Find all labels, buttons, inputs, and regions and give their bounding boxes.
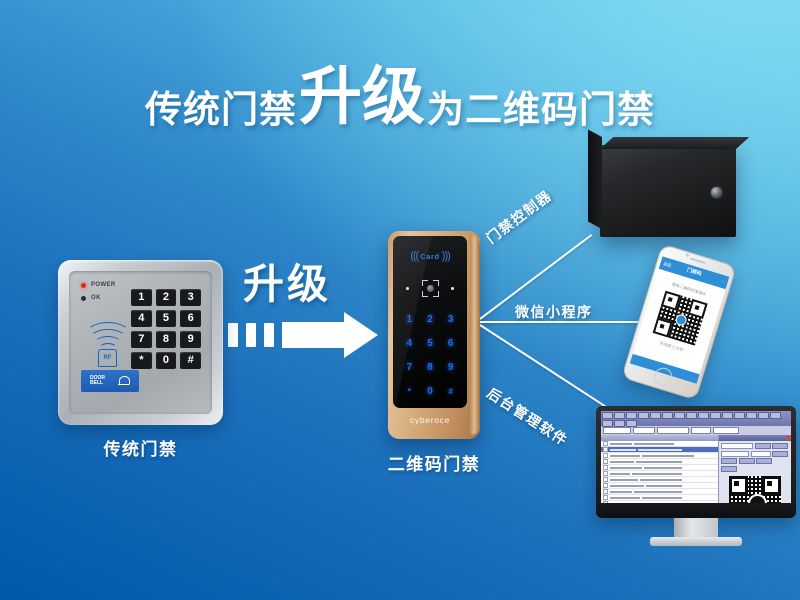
- keypad-key[interactable]: 8: [156, 331, 177, 348]
- form-input[interactable]: [721, 443, 753, 449]
- qr-reader-side-edge: [470, 235, 480, 435]
- form-button[interactable]: [772, 443, 788, 449]
- form-input[interactable]: [721, 451, 749, 457]
- table-row[interactable]: [601, 501, 718, 503]
- software-toolbar[interactable]: [601, 411, 791, 426]
- qr-device-caption: 二维码门禁: [368, 450, 500, 475]
- arrow-dash: [264, 323, 274, 347]
- keypad-key[interactable]: 4: [131, 310, 152, 327]
- toolbar-button[interactable]: [758, 412, 769, 419]
- row-checkbox[interactable]: [603, 495, 608, 500]
- keypad-key[interactable]: 7: [131, 331, 152, 348]
- cell-text: [634, 443, 674, 445]
- toolbar-button[interactable]: [638, 412, 649, 419]
- qr-generate-dialog[interactable]: [718, 435, 791, 503]
- cell-text: [610, 485, 644, 487]
- connector-label-software: 后台管理软件: [483, 383, 572, 450]
- row-checkbox[interactable]: [603, 471, 608, 476]
- scanner-corner: [433, 291, 439, 297]
- arrow-head: [282, 312, 378, 358]
- legacy-device-caption: 传统门禁: [58, 435, 223, 460]
- toolbar-button[interactable]: [734, 412, 745, 419]
- scanner-lens: [427, 285, 434, 292]
- rf-wave-arc: [85, 322, 131, 348]
- controller-front-panel: [600, 145, 736, 237]
- rf-card-label: RF: [98, 349, 117, 367]
- form-button[interactable]: [739, 458, 755, 464]
- qr-finder-pattern: [653, 317, 673, 337]
- cell-text: [610, 455, 640, 457]
- toolbar-button[interactable]: [674, 412, 685, 419]
- wave-right-icon: ))): [440, 250, 450, 262]
- keypad-key[interactable]: 0: [156, 352, 177, 369]
- cell-text: [610, 491, 632, 493]
- cell-text: [610, 473, 630, 475]
- toolbar-button[interactable]: [626, 420, 637, 427]
- form-button[interactable]: [755, 443, 771, 449]
- sensor-led-right: [451, 287, 454, 290]
- keypad-key[interactable]: 9: [180, 331, 201, 348]
- toolbar-button[interactable]: [770, 412, 781, 419]
- qr-scanner-icon: [422, 280, 439, 297]
- cell-text: [610, 443, 632, 445]
- cell-text: [642, 455, 694, 457]
- row-checkbox[interactable]: [603, 483, 608, 488]
- filter-input[interactable]: [713, 427, 739, 434]
- power-led-indicator: POWER: [81, 282, 116, 288]
- toolbar-button[interactable]: [650, 412, 661, 419]
- toolbar-button[interactable]: [626, 412, 637, 419]
- toolbar-button[interactable]: [722, 412, 733, 419]
- toolbar-button[interactable]: [602, 412, 613, 419]
- touch-key[interactable]: 8: [420, 356, 441, 380]
- toolbar-button[interactable]: [698, 412, 709, 419]
- keypad-key[interactable]: *: [131, 352, 152, 369]
- scanner-corner: [422, 291, 428, 297]
- row-checkbox[interactable]: [603, 459, 608, 464]
- phone-body: 返回 门禁码 ··· 请将二维码对准读头 有效期 5 分钟: [621, 244, 737, 401]
- page-title: 传统门禁升级为二维码门禁: [0, 46, 800, 137]
- earpiece-speaker: [690, 258, 706, 265]
- apple-logo-icon: [692, 507, 699, 515]
- dialog-form[interactable]: [719, 441, 791, 474]
- legacy-access-reader: POWER OK RF DOOR BELL 1: [58, 260, 223, 425]
- title-part-1: 传统门禁: [145, 89, 297, 130]
- row-checkbox[interactable]: [603, 501, 608, 503]
- touch-key[interactable]: 1: [399, 308, 420, 332]
- card-text: Card: [420, 252, 440, 261]
- monitor-frame: [596, 406, 796, 518]
- connector-label-controller: 门禁控制器: [482, 185, 556, 248]
- toolbar-button[interactable]: [710, 412, 721, 419]
- toolbar-button[interactable]: [662, 412, 673, 419]
- card-wave-label: ((( Card ))): [393, 250, 467, 262]
- filter-input[interactable]: [657, 427, 689, 434]
- cell-text: [632, 473, 682, 475]
- monitor-stand-base: [650, 537, 742, 546]
- qr-code-icon: [729, 476, 781, 504]
- qr-finder-pattern: [688, 299, 708, 319]
- cell-text: [638, 449, 682, 451]
- keypad-key[interactable]: 3: [180, 289, 201, 306]
- brand-logo-text: cyberoce: [393, 415, 467, 425]
- cell-text: [610, 449, 636, 451]
- right-arrow-icon: [228, 312, 378, 358]
- bell-icon: [117, 375, 130, 388]
- keypad-key[interactable]: 5: [156, 310, 177, 327]
- toolbar-button[interactable]: [602, 420, 613, 427]
- cell-text: [610, 461, 634, 463]
- qr-reader-glass-panel: ((( Card ))) 1 2 3 4 5 6 7 8 9 *: [393, 236, 467, 408]
- toolbar-button[interactable]: [614, 412, 625, 419]
- cell-text: [640, 479, 682, 481]
- qr-access-reader: ((( Card ))) 1 2 3 4 5 6 7 8 9 *: [388, 231, 480, 439]
- legacy-reader-faceplate: POWER OK RF DOOR BELL 1: [69, 271, 212, 414]
- monitor-screen: [601, 411, 791, 503]
- qr-center-logo: [674, 313, 688, 327]
- filter-input[interactable]: [603, 427, 631, 434]
- phone-screen: 返回 门禁码 ··· 请将二维码对准读头 有效期 5 分钟: [630, 256, 730, 384]
- ok-led-indicator: OK: [81, 295, 101, 301]
- upgrade-label: 升级: [243, 250, 331, 310]
- access-controller-box: [588, 137, 736, 237]
- form-input[interactable]: [751, 451, 771, 457]
- legacy-keypad[interactable]: 1 2 3 4 5 6 7 8 9 * 0 #: [131, 289, 201, 369]
- controller-top-panel: [600, 137, 749, 149]
- row-checkbox[interactable]: [603, 447, 608, 452]
- software-filter-bar[interactable]: [601, 426, 791, 435]
- keypad-key[interactable]: 2: [156, 289, 177, 306]
- smartphone: 返回 门禁码 ··· 请将二维码对准读头 有效期 5 分钟: [621, 244, 737, 401]
- wave-left-icon: (((: [410, 250, 420, 262]
- touch-key[interactable]: 5: [420, 332, 441, 356]
- power-led-dot: [81, 283, 86, 288]
- form-button[interactable]: [756, 458, 772, 464]
- cell-text: [610, 503, 636, 504]
- form-button[interactable]: [772, 451, 788, 457]
- management-software-monitor: [596, 406, 796, 546]
- cell-text: [642, 497, 682, 499]
- cell-text: [610, 479, 638, 481]
- keypad-key[interactable]: #: [180, 352, 201, 369]
- cell-text: [610, 497, 640, 499]
- touch-key[interactable]: #: [440, 380, 461, 404]
- arrow-dash: [228, 323, 238, 347]
- touch-key[interactable]: 6: [440, 332, 461, 356]
- row-checkbox[interactable]: [603, 453, 608, 458]
- doorbell-button[interactable]: DOOR BELL: [81, 370, 139, 392]
- toolbar-button[interactable]: [686, 412, 697, 419]
- touch-key[interactable]: *: [399, 380, 420, 404]
- row-checkbox[interactable]: [603, 489, 608, 494]
- qr-finder-pattern: [762, 476, 781, 495]
- form-button[interactable]: [721, 458, 737, 464]
- sensor-led-left: [406, 287, 409, 290]
- doorbell-line-2: BELL: [90, 381, 105, 387]
- front-camera-icon: [686, 253, 690, 257]
- touch-key[interactable]: 2: [420, 308, 441, 332]
- close-icon[interactable]: [786, 436, 790, 440]
- cell-text: [610, 467, 642, 469]
- row-checkbox[interactable]: [603, 465, 608, 470]
- records-table[interactable]: [601, 435, 718, 503]
- touch-key[interactable]: 0: [420, 380, 441, 404]
- touch-key[interactable]: 4: [399, 332, 420, 356]
- cell-text: [646, 485, 682, 487]
- title-part-2: 为二维码门禁: [427, 89, 655, 130]
- ok-led-label: OK: [91, 295, 101, 301]
- qr-touch-keypad[interactable]: 1 2 3 4 5 6 7 8 9 * 0 #: [399, 308, 461, 404]
- keypad-key[interactable]: 1: [131, 289, 152, 306]
- qr-code-icon: [653, 291, 708, 346]
- toolbar-button[interactable]: [746, 412, 757, 419]
- touch-key[interactable]: 3: [440, 308, 461, 332]
- rfid-wave-icon: RF: [85, 313, 129, 365]
- form-button[interactable]: [721, 466, 737, 472]
- qr-center-logo: [748, 494, 767, 503]
- keypad-key[interactable]: 6: [180, 310, 201, 327]
- row-checkbox[interactable]: [603, 477, 608, 482]
- connector-label-miniprogram: 微信小程序: [515, 302, 593, 322]
- toolbar-button[interactable]: [614, 420, 625, 427]
- qr-finder-pattern: [661, 291, 681, 311]
- row-checkbox[interactable]: [603, 441, 608, 446]
- doorbell-label: DOOR BELL: [90, 376, 105, 387]
- touch-key[interactable]: 9: [440, 356, 461, 380]
- software-body: [601, 435, 791, 503]
- controller-side-panel: [588, 130, 602, 229]
- title-emphasis: 升级: [299, 62, 425, 132]
- scanner-corner: [433, 280, 439, 286]
- power-led-label: POWER: [91, 282, 116, 288]
- filter-input[interactable]: [691, 427, 711, 434]
- poster-canvas: 传统门禁升级为二维码门禁 升级 POWER OK RF: [0, 0, 800, 600]
- arrow-dash: [246, 323, 256, 347]
- touch-key[interactable]: 7: [399, 356, 420, 380]
- cell-text: [636, 461, 682, 463]
- qr-finder-pattern: [729, 476, 748, 495]
- ok-led-dot: [81, 296, 86, 301]
- filter-input[interactable]: [633, 427, 655, 434]
- lock-icon: [711, 187, 722, 198]
- cell-text: [638, 503, 682, 504]
- cell-text: [644, 467, 682, 469]
- cell-text: [634, 491, 682, 493]
